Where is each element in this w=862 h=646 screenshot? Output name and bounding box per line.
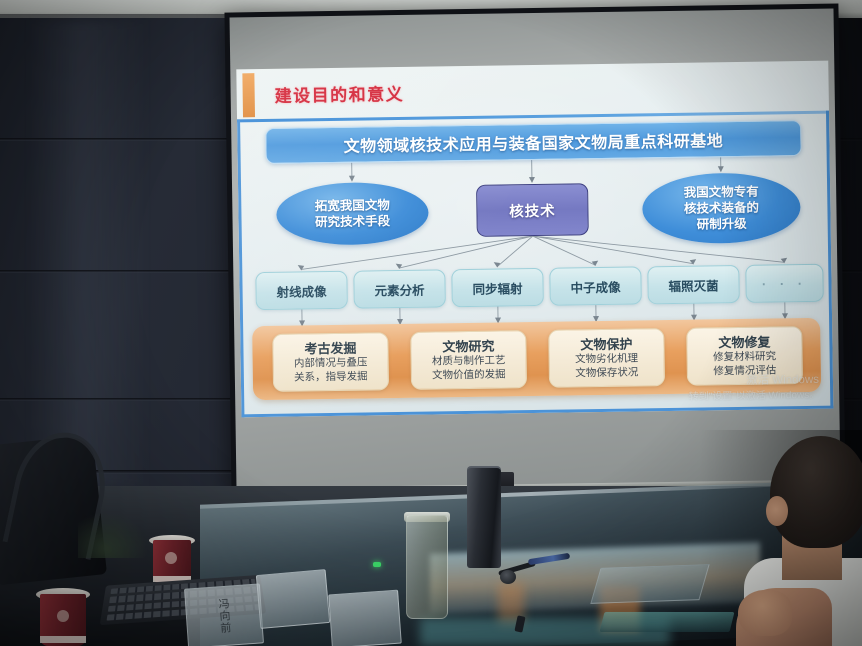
diagram-app-archaeology: 考古发掘 内部情况与叠压 关系，指导发掘 [272,332,389,392]
app-line-2: 文物价值的发掘 [432,368,506,383]
node-line-1: 拓宽我国文物 [315,197,390,214]
name-placard [256,569,330,629]
paper-cup-base-band [40,636,86,643]
status-led [373,562,381,567]
name-placard [328,590,402,646]
hierarchy-diagram: 文物领域核技术应用与装备国家文物局重点科研基地 拓宽我国文物 研究技术手段 核技… [237,114,833,415]
potted-plant [78,512,148,558]
thermos [467,468,501,568]
ellipsis-label: · · · [762,275,807,291]
microphone [500,570,516,584]
app-title: 文物研究 [442,338,494,356]
app-title: 文物保护 [580,336,632,354]
diagram-tech-ray-imaging: 射线成像 [255,271,348,310]
diagram-tech-ellipsis: · · · [745,264,824,303]
app-line-2: 关系，指导发掘 [294,370,368,385]
node-line-3: 研制升级 [697,216,747,233]
node-line-1: 我国文物专有 [684,184,759,201]
app-line-1: 内部情况与叠压 [294,356,368,371]
windows-activation-watermark: 激活 Windows 转到"设置"以激活 Windows。 [688,373,819,405]
tech-label: 射线成像 [276,281,326,301]
tech-label: 同步辐射 [472,278,522,298]
slide-header: 建设目的和意义 [236,61,829,120]
diagram-tech-irradiation-sterilization: 辐照灭菌 [647,265,740,304]
node-line-2: 研究技术手段 [315,213,390,230]
diagram-node-nuclear-tech: 核技术 [476,183,589,237]
app-title: 考古发掘 [304,340,356,358]
attendee-head [770,436,862,548]
app-line-1: 修复材料研究 [713,350,776,364]
app-line-2: 文物保存状况 [575,366,638,380]
tech-label: 中子成像 [570,276,620,296]
node-line-1: 核技术 [509,199,556,221]
app-line-1: 材质与制作工艺 [432,354,506,369]
title-accent-bar [242,73,255,117]
paper-cup-logo [57,610,69,622]
diagram-tech-synchrotron: 同步辐射 [451,268,544,307]
name-placard: 冯向前 [184,583,264,646]
app-line-1: 文物劣化机理 [575,352,638,366]
name-placard-text: 冯向前 [215,597,233,634]
app-title: 文物修复 [718,334,770,352]
attendee-hand [738,590,792,636]
diagram-app-research: 文物研究 材质与制作工艺 文物价值的发掘 [410,330,527,390]
presentation-slide: 建设目的和意义 [236,61,833,418]
attendee-ear [766,496,788,526]
paper-cup-logo [165,552,177,564]
projection-screen: 建设目的和意义 [224,3,845,494]
slide-title: 建设目的和意义 [274,80,404,107]
root-node-label: 文物领域核技术应用与装备国家文物局重点科研基地 [343,127,723,157]
tech-label: 辐照灭菌 [668,275,718,295]
diagram-app-conservation: 文物保护 文物劣化机理 文物保存状况 [548,328,665,388]
projection-screen-surface: 建设目的和意义 [230,9,841,490]
tablet-device [590,564,709,604]
watermark-line-2: 转到"设置"以激活 Windows。 [689,388,820,405]
tea-jar [406,515,448,619]
diagram-tech-neutron-imaging: 中子成像 [549,266,642,305]
conference-room-scene: 建设目的和意义 [0,0,862,646]
notepad [600,612,735,632]
diagram-tech-element-analysis: 元素分析 [353,269,446,308]
wall-light-sheen [28,20,148,488]
node-line-2: 核技术装备的 [684,200,759,217]
tech-label: 元素分析 [374,279,424,299]
